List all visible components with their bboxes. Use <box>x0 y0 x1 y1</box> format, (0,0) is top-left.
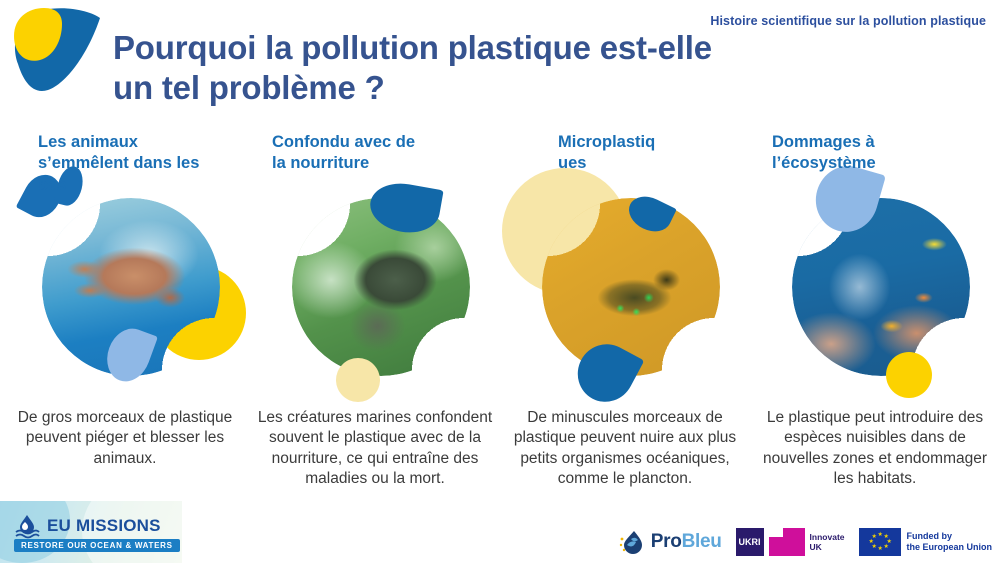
innovate-uk-magenta-block <box>769 528 805 556</box>
column-heading: Dommages à l’écosystème <box>772 132 990 175</box>
column-microplastics: Microplastiq ues De minuscules morceaux … <box>500 126 750 546</box>
column-grid: Les animaux s’emmêlent dans les bas De g… <box>0 126 1000 546</box>
eu-missions-eu: EU <box>47 516 71 535</box>
decorative-circle-yellow <box>886 352 932 398</box>
eyebrow-label: Histoire scientifique sur la pollution p… <box>710 14 986 28</box>
innovate-uk-text: Innovate UK <box>810 532 845 552</box>
title-line-2: un tel problème ? <box>113 68 813 108</box>
decorative-circle-paleyellow <box>336 358 380 402</box>
water-drop-waves-icon <box>14 513 40 539</box>
column-ecosystem-damage: Dommages à l’écosystème Le plastique peu… <box>750 126 1000 546</box>
column-heading: Les animaux s’emmêlent dans les bas <box>38 132 240 196</box>
ukri-innovate-uk-logo: UKRI Innovate UK <box>736 528 845 556</box>
page-title: Pourquoi la pollution plastique est-elle… <box>113 28 813 109</box>
probleu-logo: ProBleu <box>618 527 722 557</box>
column-artwork <box>500 176 750 406</box>
eu-funding-logo: ★ ★ ★ ★ ★ ★ ★ ★ Funded by the European U… <box>859 528 993 556</box>
photo-blob <box>292 198 470 376</box>
probleu-wave-drop-icon <box>618 527 648 557</box>
photo-blob <box>542 198 720 376</box>
column-heading: Microplastiq ues <box>558 132 740 175</box>
probleu-bleu: Bleu <box>682 531 722 552</box>
column-caption: Le plastique peut introduire des espèces… <box>756 408 994 490</box>
partner-logo-row: ProBleu UKRI Innovate UK ★ ★ ★ ★ ★ ★ ★ ★ <box>618 527 992 557</box>
column-mistaken-for-food: Confondu avec de la nourriture Les créat… <box>250 126 500 546</box>
column-caption: De gros morceaux de plastique peuvent pi… <box>6 408 244 469</box>
column-caption: De minuscules morceaux de plastique peuv… <box>506 408 744 490</box>
photo-blob <box>792 198 970 376</box>
sea-turtle-photo <box>292 198 470 376</box>
eu-missions-wordmark: EU MISSIONS <box>14 513 161 539</box>
plankton-microscope-photo <box>542 198 720 376</box>
column-caption: Les créatures marines confondent souvent… <box>256 408 494 490</box>
ukri-mark: UKRI <box>736 528 764 556</box>
column-artwork <box>250 176 500 406</box>
probleu-drop-logo-icon <box>4 2 108 106</box>
column-artwork <box>750 176 1000 406</box>
eu-missions-tagline: RESTORE OUR OCEAN & WATERS <box>14 539 180 552</box>
eu-missions-missions: MISSIONS <box>76 516 161 535</box>
probleu-pro: Pro <box>651 531 682 552</box>
column-animals-entangled: Les animaux s’emmêlent dans les bas De g… <box>0 126 250 546</box>
eu-missions-logo: EU MISSIONS RESTORE OUR OCEAN & WATERS <box>0 501 182 563</box>
slide-root: Histoire scientifique sur la pollution p… <box>0 0 1000 563</box>
eu-missions-text: EU MISSIONS <box>47 516 161 536</box>
title-line-1: Pourquoi la pollution plastique est-elle <box>113 28 813 68</box>
coral-reef-photo <box>792 198 970 376</box>
column-artwork <box>0 176 250 406</box>
eu-funding-text: Funded by the European Union <box>907 531 993 554</box>
column-heading: Confondu avec de la nourriture <box>272 132 490 175</box>
eu-flag-icon: ★ ★ ★ ★ ★ ★ ★ ★ <box>859 528 901 556</box>
probleu-wordmark: ProBleu <box>651 531 722 553</box>
